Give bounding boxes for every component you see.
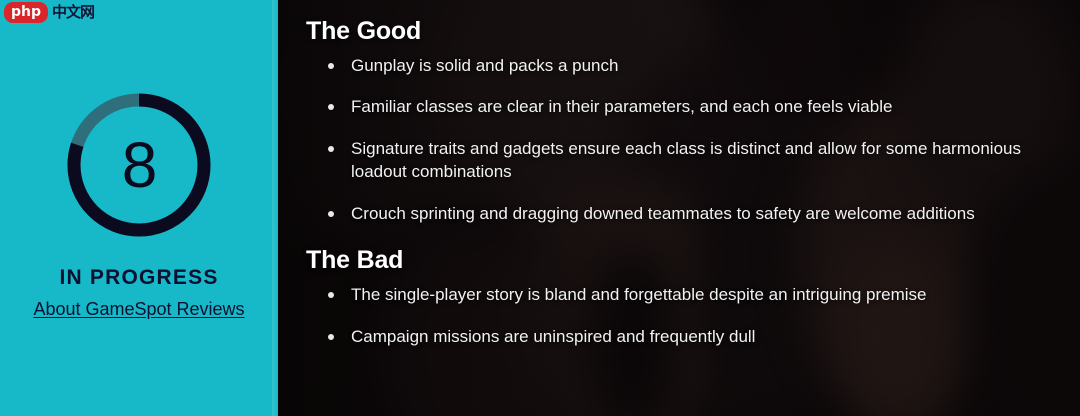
game-review-card: php 中文网 8 IN PROGRESS About GameSpot Rev… [0, 0, 1080, 416]
bullet-icon [328, 334, 334, 340]
bad-points-list: The single-player story is bland and for… [306, 284, 1050, 349]
bullet-icon [328, 146, 334, 152]
review-points-container: The Good Gunplay is solid and packs a pu… [278, 0, 1080, 349]
section-title-bad: The Bad [306, 247, 1050, 275]
bullet-icon [328, 292, 334, 298]
score-value: 8 [62, 88, 216, 242]
list-item: Signature traits and gadgets ensure each… [306, 138, 1050, 184]
site-watermark: php 中文网 [4, 2, 94, 23]
score-status-label: IN PROGRESS [59, 266, 218, 290]
watermark-site-label: 中文网 [52, 5, 94, 20]
section-title-good: The Good [306, 18, 1050, 46]
list-item: Familiar classes are clear in their para… [306, 96, 1050, 119]
bullet-icon [328, 63, 334, 69]
bullet-icon [328, 104, 334, 110]
bullet-icon [328, 211, 334, 217]
php-logo-icon: php [4, 2, 48, 23]
score-ring: 8 [62, 88, 216, 242]
score-panel: php 中文网 8 IN PROGRESS About GameSpot Rev… [0, 0, 278, 416]
list-item: Crouch sprinting and dragging downed tea… [306, 203, 1050, 226]
good-points-list: Gunplay is solid and packs a punch Famil… [306, 55, 1050, 227]
point-text: The single-player story is bland and for… [351, 285, 927, 304]
list-item: Campaign missions are uninspired and fre… [306, 326, 1050, 349]
about-reviews-link[interactable]: About GameSpot Reviews [33, 299, 244, 320]
point-text: Crouch sprinting and dragging downed tea… [351, 204, 975, 223]
list-item: The single-player story is bland and for… [306, 284, 1050, 307]
point-text: Campaign missions are uninspired and fre… [351, 327, 755, 346]
list-item: Gunplay is solid and packs a punch [306, 55, 1050, 78]
point-text: Signature traits and gadgets ensure each… [351, 139, 1021, 181]
point-text: Familiar classes are clear in their para… [351, 97, 892, 116]
review-summary-panel: The Good Gunplay is solid and packs a pu… [278, 0, 1080, 416]
point-text: Gunplay is solid and packs a punch [351, 56, 618, 75]
